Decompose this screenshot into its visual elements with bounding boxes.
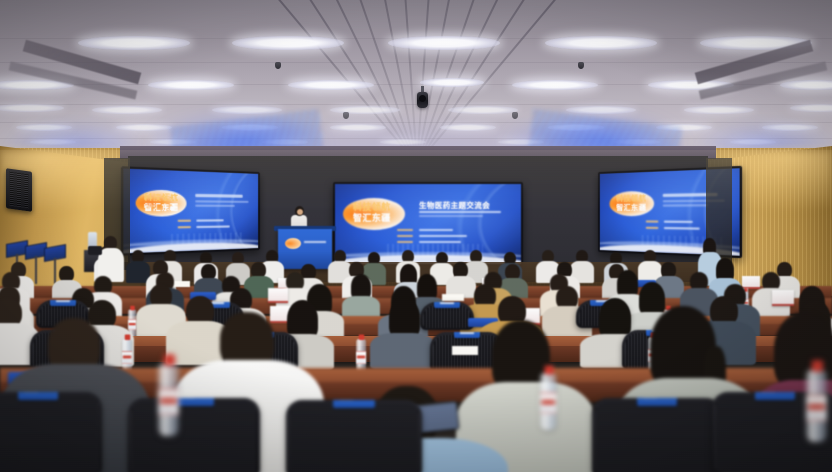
left-screen-logo-line2: 智汇东疆 — [144, 202, 178, 213]
left-screen-subhead-bar — [195, 205, 234, 207]
camera-icon — [88, 246, 102, 255]
ceiling-camera-icon — [417, 92, 428, 108]
ceiling-band — [0, 62, 832, 63]
right-screen-detail-value — [664, 221, 693, 223]
office-chair[interactable] — [128, 398, 260, 472]
main-screen-subhead-line — [419, 215, 483, 217]
wall-speaker-icon — [6, 168, 32, 212]
right-screen-logo-line2: 智汇东疆 — [616, 203, 646, 214]
office-chair[interactable] — [0, 392, 102, 472]
ceiling-light — [684, 106, 754, 114]
lectern-text-bar — [304, 241, 326, 243]
ceiling-light — [330, 124, 386, 131]
ceiling-light — [380, 139, 426, 145]
water-bottle — [806, 370, 827, 442]
right-screen-detail-label — [646, 220, 659, 222]
sprinkler-icon — [578, 62, 584, 69]
conference-hall-photo: 科技领航 智汇东疆 生物医药主题交流会 科技领航 智汇东疆 — [0, 0, 832, 472]
printed-paper — [452, 346, 478, 355]
sprinkler-icon — [343, 112, 349, 119]
ceiling-light — [545, 36, 657, 50]
main-led-screen[interactable]: 科技领航 智汇东疆 生物医药主题交流会 — [333, 182, 523, 266]
ceiling-light — [780, 80, 832, 90]
main-screen-detail-label — [397, 241, 413, 243]
office-chair[interactable] — [286, 400, 422, 472]
ceiling-band — [0, 104, 832, 105]
left-screen-detail-label — [178, 220, 191, 222]
presenter-face — [297, 209, 303, 215]
name-tent-card — [772, 290, 794, 306]
water-bottle — [540, 373, 557, 430]
ceiling-light — [512, 80, 598, 90]
left-side-display[interactable]: 科技领航 智汇东疆 — [121, 166, 260, 256]
ceiling-light — [232, 36, 344, 50]
music-stand-pole — [35, 256, 37, 284]
ceiling-light — [790, 104, 832, 112]
ceiling-light — [440, 124, 496, 131]
right-screen-detail-label — [646, 227, 659, 229]
lectern — [278, 229, 332, 269]
left-screen-detail-label — [178, 226, 191, 228]
right-screen-subhead-bar — [663, 204, 708, 206]
main-screen-logo-line2: 智汇东疆 — [353, 211, 391, 224]
name-tent-card — [268, 288, 288, 303]
main-screen-detail-value — [419, 235, 467, 237]
water-bottle — [158, 364, 179, 436]
main-screen-subhead-line — [419, 211, 501, 213]
ceiling-light — [0, 104, 64, 112]
ceiling-light — [78, 36, 190, 50]
lectern-logo-icon — [285, 238, 301, 249]
ceiling-light — [330, 106, 400, 114]
office-chair[interactable] — [592, 398, 722, 472]
main-screen-detail-label — [397, 229, 413, 231]
printed-paper — [172, 281, 190, 287]
ceiling-light — [288, 80, 374, 90]
main-screen-detail-value — [419, 229, 453, 231]
main-screen-headline: 生物医药主题交流会 — [419, 200, 490, 211]
main-screen-detail-label — [397, 235, 413, 237]
sprinkler-icon — [275, 62, 281, 69]
ceiling-light — [388, 36, 500, 50]
music-stand-pole — [54, 258, 56, 284]
ceiling-light — [148, 80, 234, 90]
main-screen-detail-value — [419, 241, 461, 243]
office-chair[interactable] — [420, 302, 474, 330]
printed-paper — [442, 294, 464, 301]
ceiling-light — [420, 78, 484, 87]
left-screen-detail-value — [196, 219, 223, 221]
